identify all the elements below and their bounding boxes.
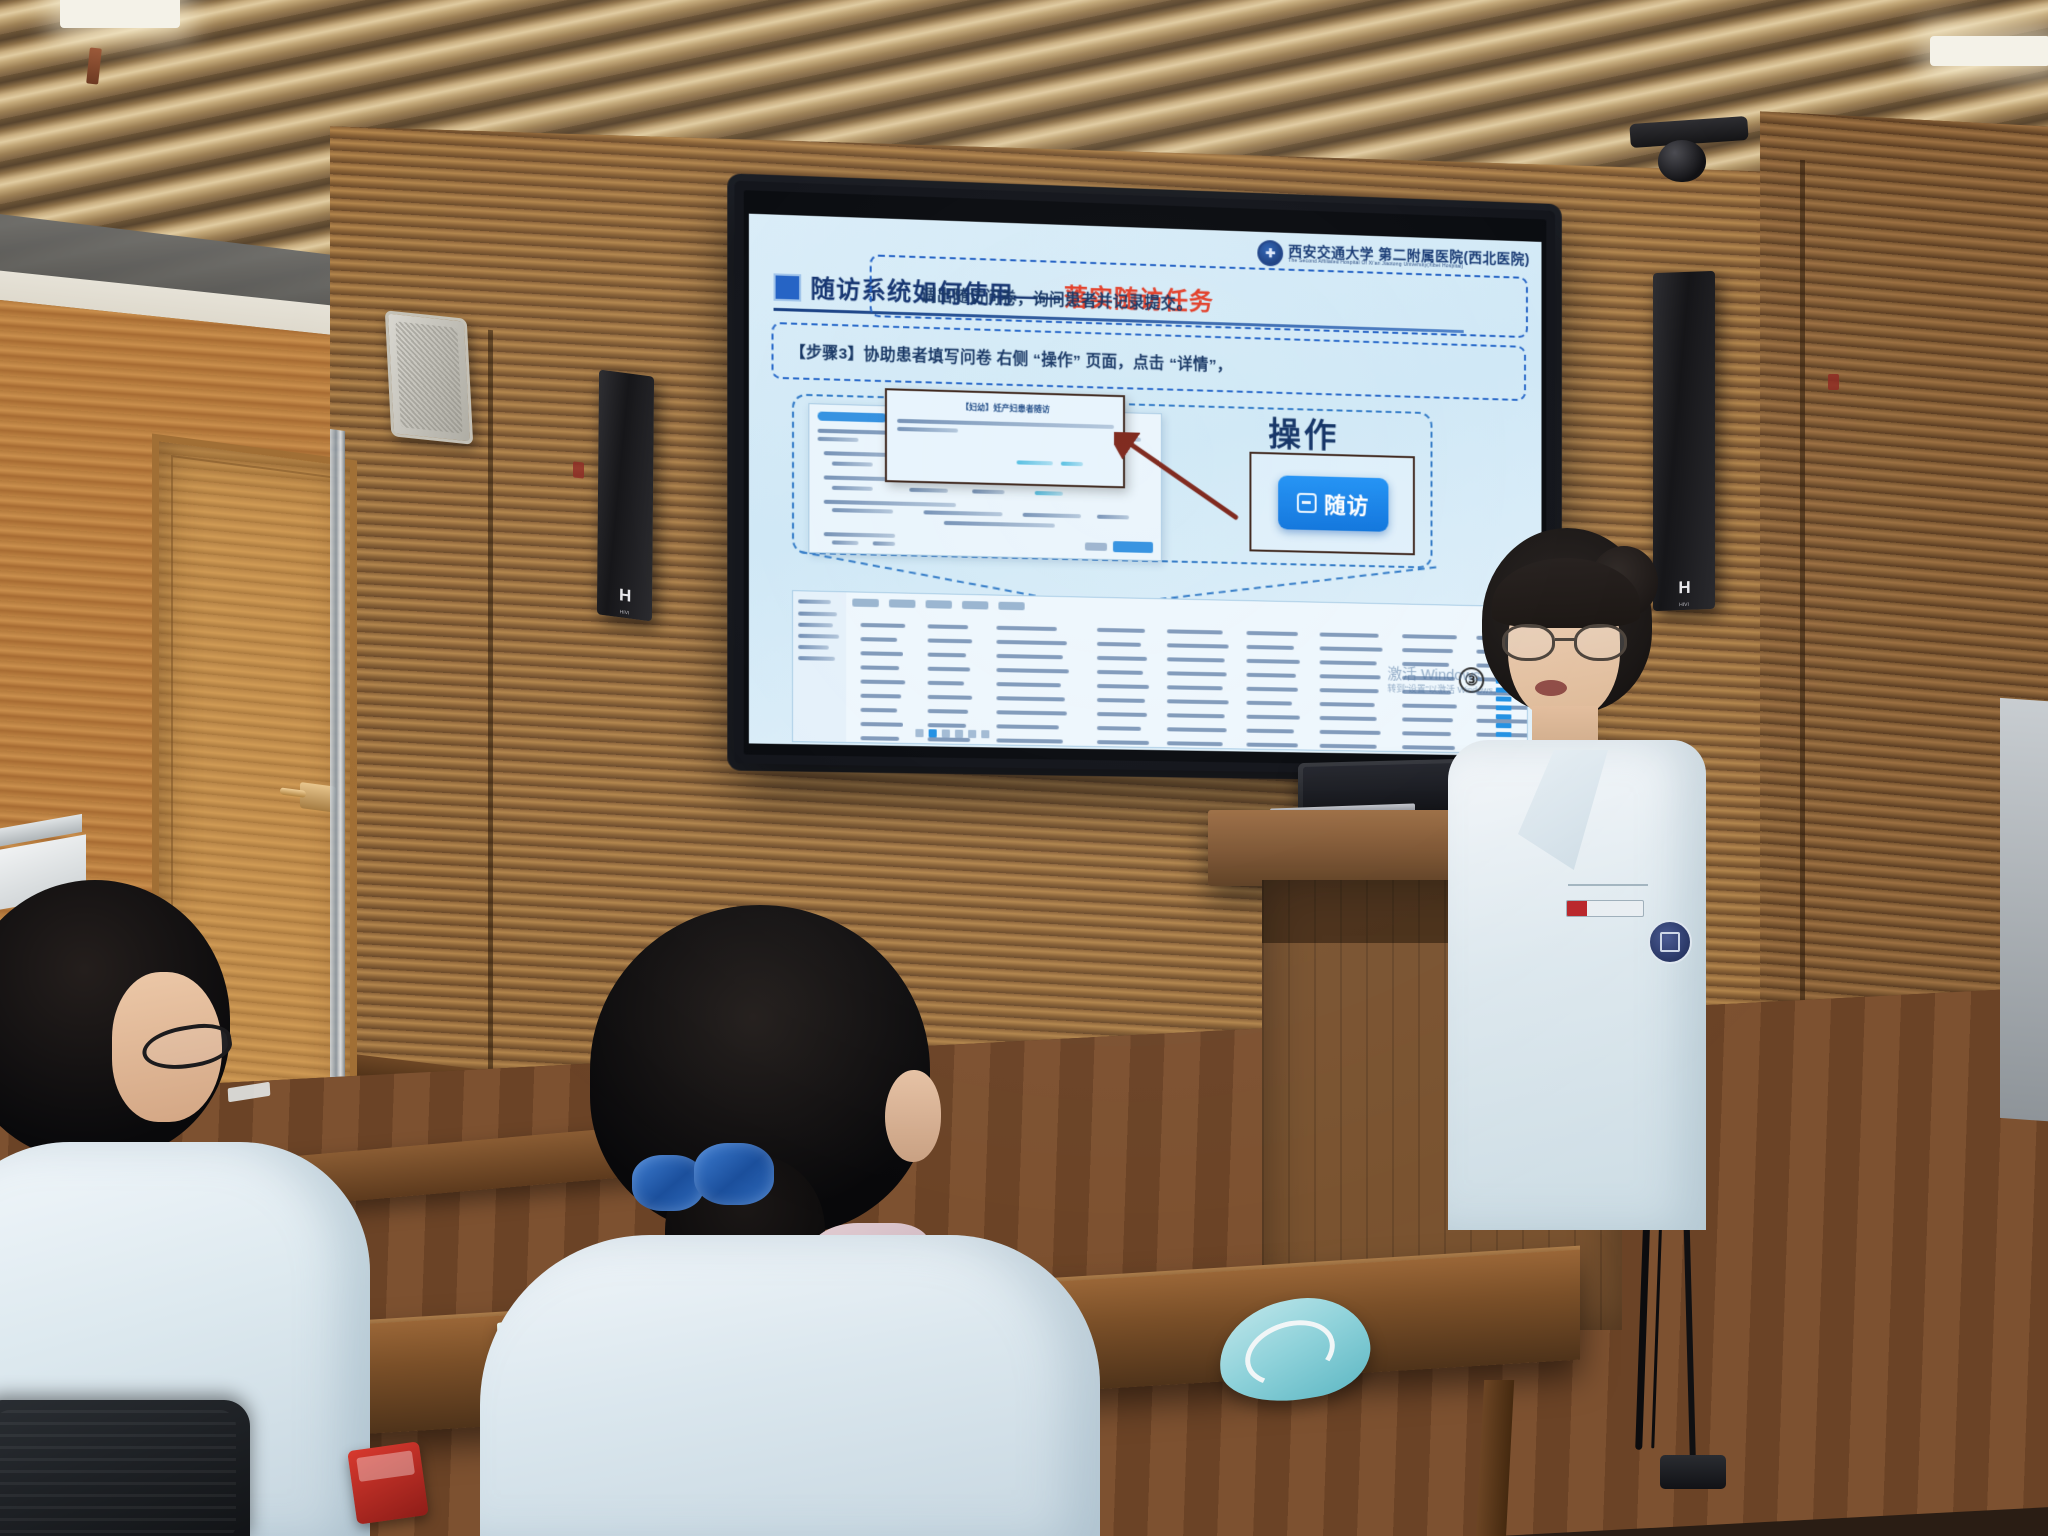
popup-title: 【妇幼】妊产妇患者随访 bbox=[961, 401, 1050, 415]
pointer-arrow-icon bbox=[1114, 432, 1243, 525]
presenter-mouth bbox=[1535, 680, 1567, 696]
operation-label: 操作 bbox=[1268, 407, 1339, 457]
form-submit-button[interactable] bbox=[1113, 541, 1153, 553]
questionnaire-popup: 【妇幼】妊产妇患者随访 bbox=[885, 388, 1125, 488]
presenter-glasses-icon bbox=[1502, 624, 1630, 662]
wall-marker-right bbox=[1828, 374, 1839, 390]
column-speaker-left: H HIVI bbox=[597, 370, 654, 622]
hospital-logo-text: 西安交通大学 第二附属医院(西北医院) The Second Affiliate… bbox=[1288, 244, 1530, 272]
red-phone[interactable] bbox=[347, 1441, 429, 1524]
office-chair[interactable] bbox=[0, 1400, 250, 1536]
hospital-crest-icon: ✚ bbox=[1258, 240, 1284, 267]
audience-member-center bbox=[480, 905, 1100, 1536]
ceiling-light-1 bbox=[60, 0, 180, 28]
presenter-name-badge bbox=[1566, 900, 1644, 917]
table-pagination[interactable] bbox=[915, 729, 989, 738]
right-wall-panel bbox=[2000, 698, 2048, 1122]
hair-bow bbox=[632, 1137, 782, 1229]
presentation-room-photo: H HIVI H HIVI ✚ 西安交通大学 第二附属医院(西北医院) The … bbox=[0, 0, 2048, 1536]
follow-up-button-label: 随访 bbox=[1324, 488, 1369, 521]
table-sidebar bbox=[793, 591, 846, 742]
title-bullet-square bbox=[774, 273, 802, 301]
floor-plug-block bbox=[1660, 1455, 1726, 1489]
surgical-mask bbox=[1218, 1300, 1370, 1400]
presenter bbox=[1440, 528, 1710, 1228]
wall-speaker-white bbox=[385, 310, 473, 445]
presenter-hospital-patch bbox=[1648, 920, 1692, 964]
security-camera-icon bbox=[1630, 120, 1748, 184]
speaker-sublabel-left: HIVI bbox=[620, 609, 630, 616]
step-text: 【步骤3】协助患者填写问卷 右侧 “操作” 页面，点击 “详情”， bbox=[790, 340, 1232, 376]
speaker-logo-left: H bbox=[619, 585, 630, 606]
wall-seam-right bbox=[1800, 160, 1805, 1140]
camera-dome bbox=[1658, 140, 1706, 182]
patient-table-screenshot: ③ 激活 Windows 转到“设置”以激活 Windows。 bbox=[792, 590, 1528, 754]
ceiling-light-2 bbox=[1930, 36, 2048, 66]
audience-center-coat bbox=[480, 1235, 1100, 1536]
slide-canvas: ✚ 西安交通大学 第二附属医院(西北医院) The Second Affilia… bbox=[749, 214, 1542, 757]
follow-up-button[interactable]: 随访 bbox=[1278, 475, 1388, 531]
follow-up-icon bbox=[1297, 493, 1317, 513]
form-cancel-button[interactable] bbox=[1085, 542, 1107, 551]
audience-center-ear bbox=[885, 1070, 941, 1162]
presenter-pocket-stitch bbox=[1568, 884, 1648, 886]
presentation-display: ✚ 西安交通大学 第二附属医院(西北医院) The Second Affilia… bbox=[734, 181, 1555, 777]
wall-marker-left bbox=[573, 461, 584, 478]
form-badge bbox=[818, 411, 887, 422]
